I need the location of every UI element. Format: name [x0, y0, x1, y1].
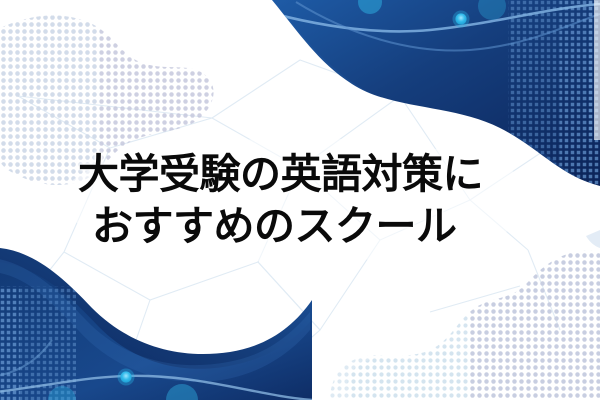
banner-image: 大学受験の英語対策に おすすめのスクール — [0, 0, 600, 400]
background-decoration — [0, 0, 600, 400]
headline-backdrop-glow — [60, 138, 540, 262]
accent-dot-top — [453, 11, 470, 28]
accent-dot-bottom — [118, 369, 135, 386]
